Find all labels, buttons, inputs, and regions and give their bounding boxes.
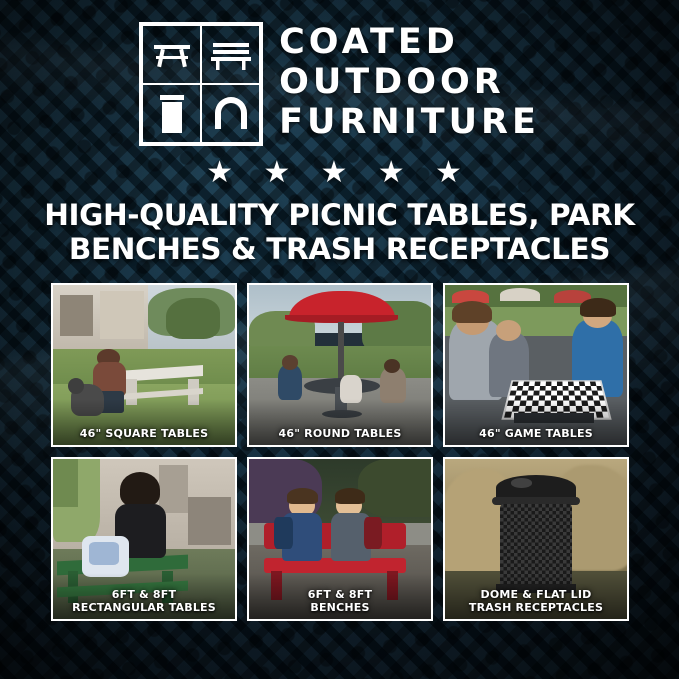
- picnic-table-icon: [142, 25, 201, 84]
- caption-line-1: 6FT & 8FT: [112, 588, 176, 601]
- poster-canvas: COATED OUTDOOR FURNITURE ★ ★ ★ ★ ★ HIGH-…: [0, 0, 679, 679]
- tile-caption-trash-receptacles: DOME & FLAT LID TRASH RECEPTACLES: [445, 589, 627, 614]
- trash-receptacle-icon: [142, 84, 201, 143]
- brand-word-1: COATED: [279, 24, 540, 62]
- headline-line-2: BENCHES & TRASH RECEPTACLES: [30, 232, 649, 266]
- tile-caption-game-tables: 46" GAME TABLES: [445, 428, 627, 440]
- tile-trash-receptacles[interactable]: DOME & FLAT LID TRASH RECEPTACLES: [443, 457, 629, 621]
- caption-line-2: TRASH RECEPTACLES: [469, 601, 603, 614]
- brand-word-3: FURNITURE: [279, 104, 540, 142]
- brand-wordmark: COATED OUTDOOR FURNITURE: [279, 22, 540, 141]
- caption-line-2: RECTANGULAR TABLES: [72, 601, 216, 614]
- logo-icon-grid: [139, 22, 263, 146]
- headline-line-1: HIGH-QUALITY PICNIC TABLES, PARK: [44, 198, 634, 232]
- tile-square-tables[interactable]: 46" SQUARE TABLES: [51, 283, 237, 447]
- tile-caption-round-tables: 46" ROUND TABLES: [249, 428, 431, 440]
- brand-logo: COATED OUTDOOR FURNITURE: [0, 22, 679, 146]
- poster-content: COATED OUTDOOR FURNITURE ★ ★ ★ ★ ★ HIGH-…: [0, 0, 679, 679]
- page-title: HIGH-QUALITY PICNIC TABLES, PARK BENCHES…: [30, 198, 649, 266]
- caption-line-1: DOME & FLAT LID: [481, 588, 592, 601]
- tile-game-tables[interactable]: 46" GAME TABLES: [443, 283, 629, 447]
- product-category-grid: 46" SQUARE TABLES: [51, 283, 629, 621]
- arch-bench-icon: [201, 84, 260, 143]
- tile-benches[interactable]: 6FT & 8FT BENCHES: [247, 457, 433, 621]
- park-bench-icon: [201, 25, 260, 84]
- brand-word-2: OUTDOOR: [279, 64, 540, 102]
- tile-round-tables[interactable]: 46" ROUND TABLES: [247, 283, 433, 447]
- star-rating: ★ ★ ★ ★ ★: [0, 158, 679, 188]
- caption-line-2: BENCHES: [310, 601, 369, 614]
- caption-line-1: 6FT & 8FT: [308, 588, 372, 601]
- tile-rectangular-tables[interactable]: 6FT & 8FT RECTANGULAR TABLES: [51, 457, 237, 621]
- tile-caption-square-tables: 46" SQUARE TABLES: [53, 428, 235, 440]
- tile-caption-rectangular-tables: 6FT & 8FT RECTANGULAR TABLES: [53, 589, 235, 614]
- tile-caption-benches: 6FT & 8FT BENCHES: [249, 589, 431, 614]
